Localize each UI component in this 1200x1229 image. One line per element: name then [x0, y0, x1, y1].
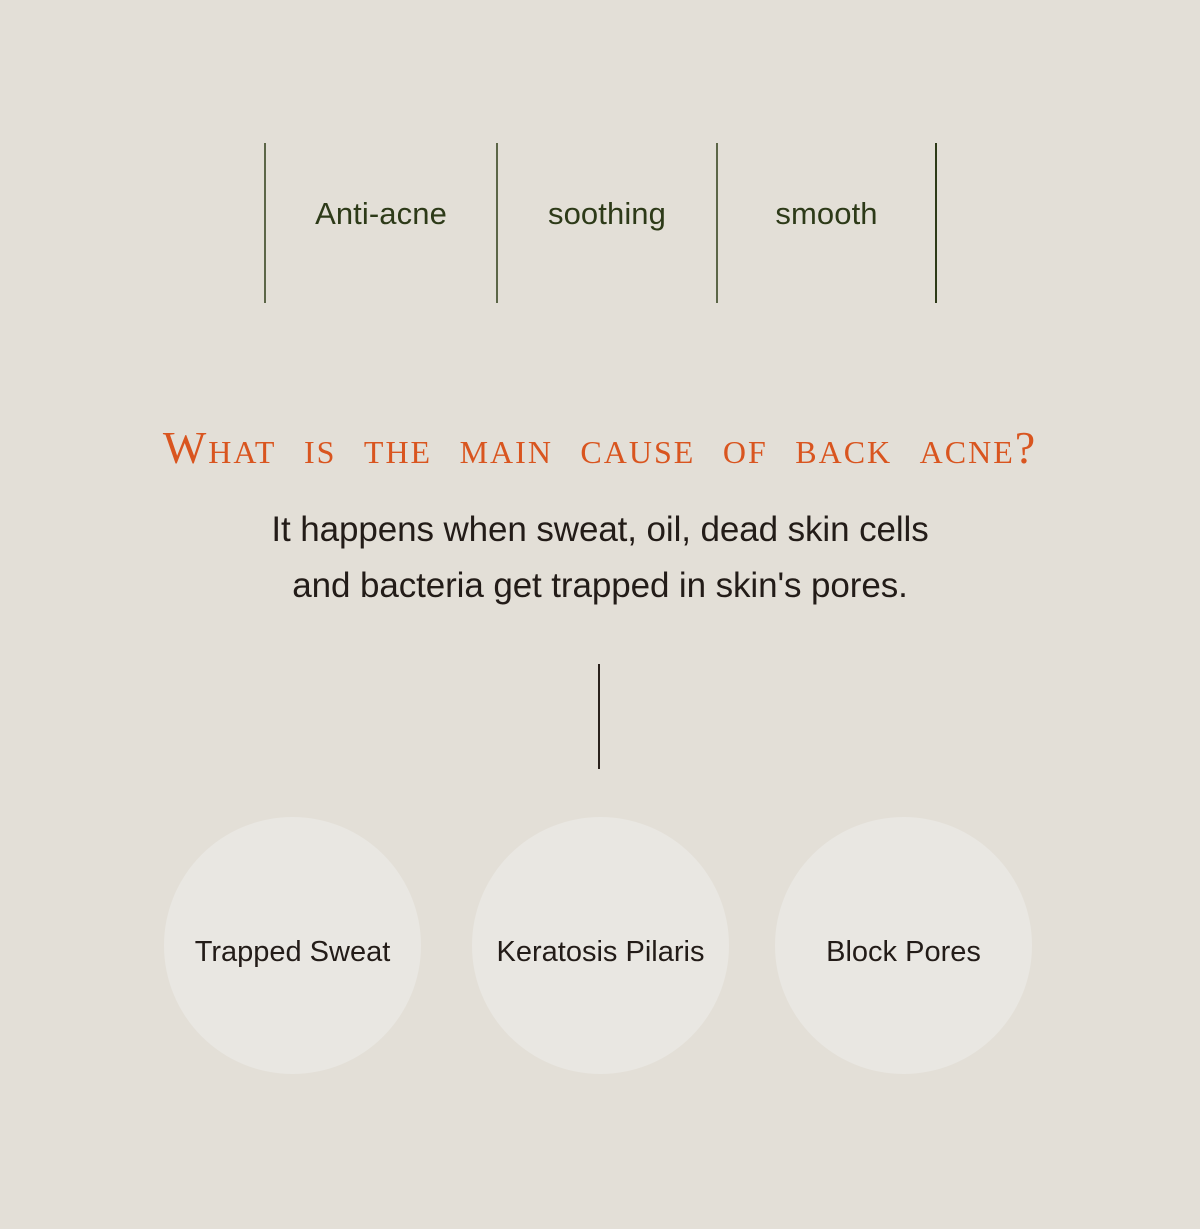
infographic-page: Anti-acne soothing smooth What is the ma… — [0, 0, 1200, 1229]
body-copy-line-1: It happens when sweat, oil, dead skin ce… — [0, 502, 1200, 558]
tag-divider-4 — [935, 143, 937, 303]
benefit-tag-soothing: soothing — [498, 195, 716, 233]
vertical-connector-line — [598, 664, 600, 769]
body-copy-line-2: and bacteria get trapped in skin's pores… — [0, 558, 1200, 614]
cause-label-trapped-sweat: Trapped Sweat — [134, 934, 451, 970]
cause-circle-row: Trapped Sweat Keratosis Pilaris Block Po… — [0, 817, 1200, 1075]
body-copy: It happens when sweat, oil, dead skin ce… — [0, 502, 1200, 614]
benefit-tag-row: Anti-acne soothing smooth — [0, 143, 1200, 303]
cause-label-keratosis-pilaris: Keratosis Pilaris — [442, 934, 759, 970]
benefit-tag-smooth: smooth — [718, 195, 935, 233]
benefit-tag-anti-acne: Anti-acne — [266, 195, 496, 233]
headline-question: What is the main cause of back acne? — [0, 418, 1200, 478]
cause-label-block-pores: Block Pores — [745, 934, 1062, 970]
